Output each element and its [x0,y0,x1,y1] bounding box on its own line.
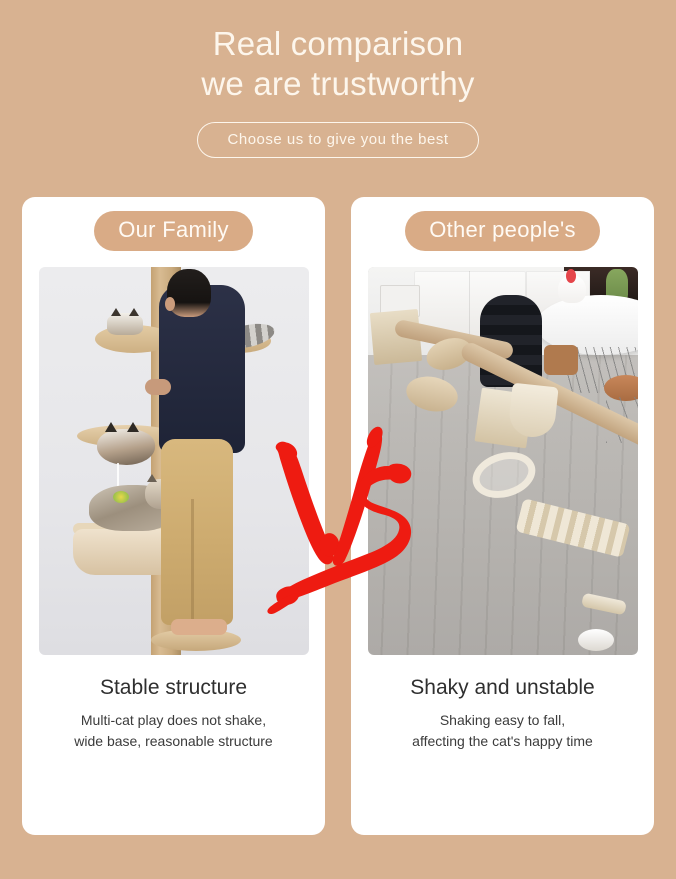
comparison-infographic: { "header": { "title_line1": "Real compa… [0,0,676,879]
caption-other-peoples: Shaky and unstable Shaking easy to fall,… [351,675,654,752]
card-our-family: Our Family Stable structure [22,197,325,835]
caption-title-right: Shaky and unstable [363,675,642,701]
title-line-2: we are trustworthy [0,64,676,104]
floor-bowl [578,629,614,651]
cat-toy [113,491,129,503]
person-pants [161,439,233,625]
caption-sub-left-line2: wide base, reasonable structure [34,731,313,752]
badge-other-peoples: Other people's [405,211,600,251]
table-toy [558,275,586,303]
page-title: Real comparison we are trustworthy [0,24,676,104]
caption-sub-right-line2: affecting the cat's happy time [363,731,642,752]
person-ear [165,297,175,311]
caption-sub-left-line1: Multi-cat play does not shake, [34,710,313,731]
person-feet [171,619,227,635]
caption-title-left: Stable structure [34,675,313,701]
chair-back [544,345,578,375]
header: Real comparison we are trustworthy Choos… [0,0,676,158]
cat-middle [97,429,155,465]
comparison-grid: Our Family Stable structure [22,197,654,835]
card-other-peoples: Other people's [351,197,654,835]
subtitle-pill: Choose us to give you the best [197,122,480,158]
caption-sub-right-line1: Shaking easy to fall, [363,710,642,731]
badge-our-family: Our Family [94,211,253,251]
cat-top [107,313,143,335]
photo-our-family [39,267,309,655]
title-line-1: Real comparison [0,24,676,64]
caption-our-family: Stable structure Multi-cat play does not… [22,675,325,752]
caption-sub-left: Multi-cat play does not shake, wide base… [34,710,313,752]
cat-ladder [515,498,630,558]
cat-ring-bed [467,445,541,505]
tree-foot-bracket [581,593,627,616]
fallen-disc-2 [403,372,461,416]
photo-other-peoples [368,267,638,655]
person-arm [145,379,171,395]
person-head [167,269,211,317]
caption-sub-right: Shaking easy to fall, affecting the cat'… [363,710,642,752]
